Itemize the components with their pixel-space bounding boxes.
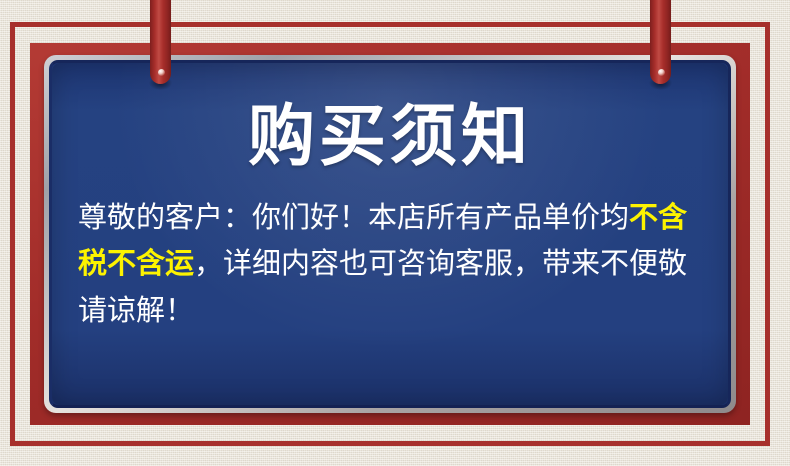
notice-sign-poster: 购买须知 尊敬的客户：你们好！本店所有产品单价均不含税不含运，详细内容也可咨询客… <box>0 0 790 466</box>
notice-body-text: 尊敬的客户：你们好！本店所有产品单价均不含税不含运，详细内容也可咨询客服，带来不… <box>74 194 706 333</box>
sign-blue-face: 购买须知 尊敬的客户：你们好！本店所有产品单价均不含税不含运，详细内容也可咨询客… <box>49 60 731 408</box>
page-title: 购买须知 <box>74 103 706 170</box>
hanging-strap-right-icon <box>650 0 671 84</box>
hanging-strap-left-icon <box>150 0 171 84</box>
sign-content: 购买须知 尊敬的客户：你们好！本店所有产品单价均不含税不含运，详细内容也可咨询客… <box>52 63 728 405</box>
sign-metal-bevel: 购买须知 尊敬的客户：你们好！本店所有产品单价均不含税不含运，详细内容也可咨询客… <box>44 55 736 413</box>
notice-segment-1: 尊敬的客户：你们好！本店所有产品单价均 <box>78 200 629 234</box>
